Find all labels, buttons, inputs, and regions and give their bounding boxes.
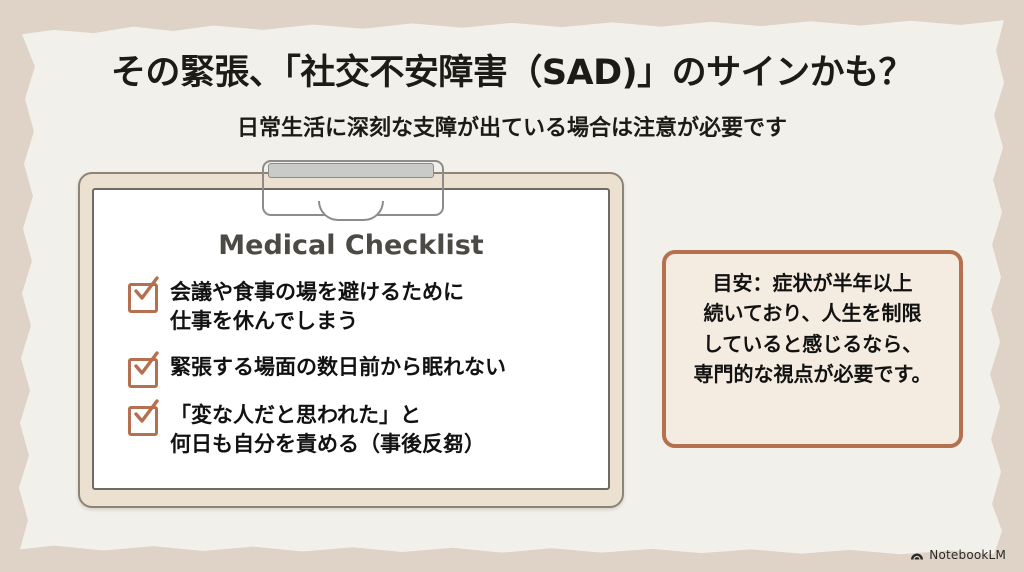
page-subtitle: 日常生活に深刻な支障が出ている場合は注意が必要です [0, 110, 1024, 142]
callout-text: 目安：症状が半年以上 続いており、人生を制限 していると感じるなら、 専門的な視… [680, 268, 945, 390]
watermark: NotebookLM [910, 548, 1006, 562]
notebooklm-logo-icon [910, 548, 924, 562]
list-item[interactable]: 緊張する場面の数日前から眠れない [128, 353, 588, 384]
list-item[interactable]: 会議や食事の場を避けるために 仕事を休んでしまう [128, 278, 588, 336]
checked-checkbox-icon[interactable] [128, 281, 156, 309]
checklist-title: Medical Checklist [94, 230, 608, 261]
checked-checkbox-icon[interactable] [128, 356, 156, 384]
callout-box: 目安：症状が半年以上 続いており、人生を制限 していると感じるなら、 専門的な視… [662, 250, 963, 448]
list-item-label: 「変な人だと思われた」と 何日も自分を責める（事後反芻） [170, 401, 485, 459]
checked-checkbox-icon[interactable] [128, 404, 156, 432]
checklist: 会議や食事の場を避けるために 仕事を休んでしまう 緊張する場面の数日前から眠れな… [128, 278, 588, 476]
list-item[interactable]: 「変な人だと思われた」と 何日も自分を責める（事後反芻） [128, 401, 588, 459]
clipboard: Medical Checklist 会議や食事の場を避けるために 仕事を休んでし… [78, 172, 624, 508]
page-title: その緊張、「社交不安障害（SAD)」のサインかも？ [0, 44, 1024, 95]
list-item-label: 会議や食事の場を避けるために 仕事を休んでしまう [170, 278, 464, 336]
watermark-label: NotebookLM [929, 548, 1006, 562]
list-item-label: 緊張する場面の数日前から眠れない [170, 353, 506, 382]
clipboard-page: Medical Checklist 会議や食事の場を避けるために 仕事を休んでし… [92, 188, 610, 490]
clipboard-clip-icon [262, 160, 440, 212]
